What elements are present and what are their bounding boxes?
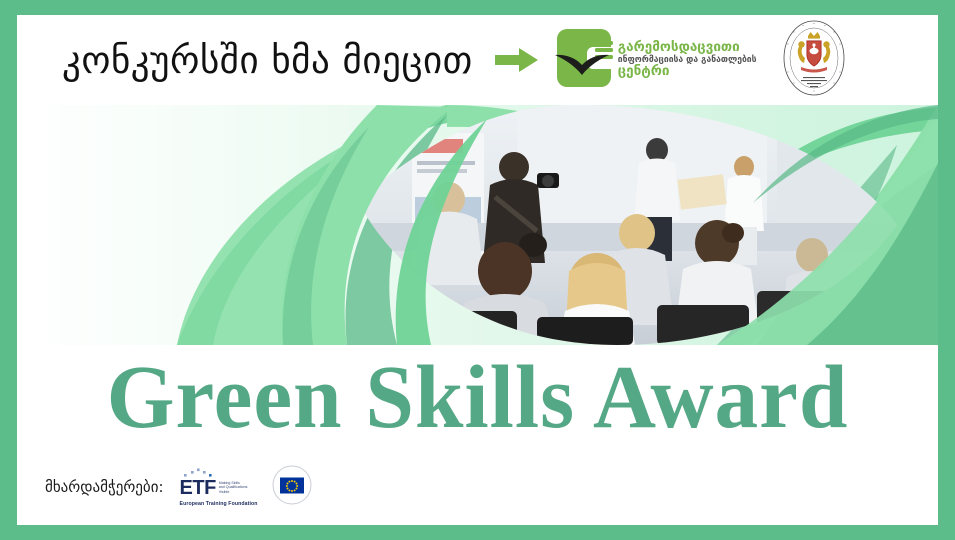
- logo-line-3: ცენტრი: [618, 65, 757, 79]
- header-band: კონკურსში ხმა მიეცით გარ: [17, 15, 938, 105]
- title-band: Green Skills Award მხარდამჭერები:: [17, 345, 938, 525]
- supporters-label: მხარდამჭერები:: [45, 478, 164, 496]
- etf-tagline: Making Skills and Qualifications Visible: [219, 481, 248, 494]
- etf-wordmark: ETF: [180, 478, 216, 498]
- book-in-c-logo-icon: [555, 27, 613, 93]
- etf-wordmark-row: ETF Making Skills and Qualifications Vis…: [180, 478, 248, 498]
- european-union-flag-logo: [272, 465, 312, 509]
- poster-card: კონკურსში ხმა მიეცით გარ: [17, 15, 938, 525]
- etf-subtitle: European Training Foundation: [180, 501, 258, 507]
- leaf-composition: [17, 105, 938, 345]
- organization-logo-text: გარემოსდაცვითი ინფორმაციისა და განათლები…: [618, 41, 757, 79]
- etf-tagline-line-2: and Qualifications: [219, 485, 248, 489]
- etf-tagline-line-1: Making Skills: [219, 481, 240, 485]
- poster-root: კონკურსში ხმა მიეცით გარ: [0, 0, 955, 540]
- etf-logo: ETF Making Skills and Qualifications Vis…: [180, 467, 258, 507]
- georgia-ministry-coat-of-arms-icon: [783, 20, 845, 100]
- page-title: კონკურსში ხმა მიეცით: [62, 42, 473, 79]
- arrow-right-icon: [495, 47, 539, 73]
- organization-logo: გარემოსდაცვითი ინფორმაციისა და განათლები…: [555, 27, 757, 93]
- supporters-row: მხარდამჭერები: ETF: [45, 465, 312, 509]
- logo-line-1: გარემოსდაცვითი: [618, 41, 757, 55]
- visual-band: [17, 105, 938, 345]
- etf-tagline-line-3: Visible: [219, 490, 230, 494]
- award-title: Green Skills Award: [31, 351, 924, 446]
